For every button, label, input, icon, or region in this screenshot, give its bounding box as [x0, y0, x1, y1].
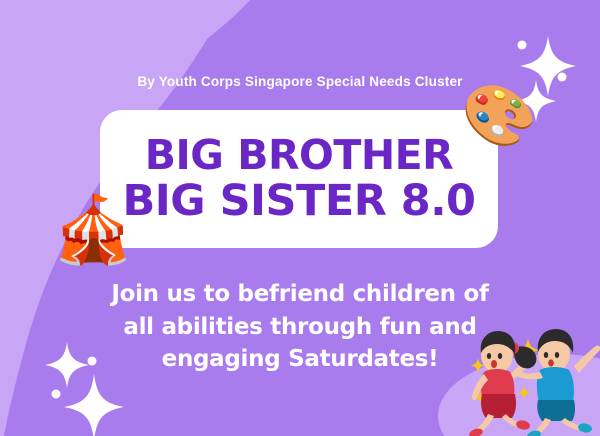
boy-eye [555, 352, 559, 358]
boy-shoe [577, 422, 592, 433]
boy-front-arm [516, 372, 543, 380]
girl-dress-top [481, 369, 514, 396]
gold-sparkle-icon [517, 386, 531, 400]
circus-tent-icon: 🎪 [52, 196, 134, 262]
girl-eye [498, 353, 502, 359]
artist-palette-icon: 🎨 [460, 83, 539, 148]
boy-mouth [548, 359, 554, 366]
girl-shoe [515, 419, 531, 431]
running-children-illustration [466, 322, 600, 436]
boy-eye [544, 352, 548, 358]
girl-skirt [481, 394, 516, 418]
boy-shirt [537, 367, 574, 402]
sparkle-dot-icon [52, 390, 61, 399]
title-line-2: BIG SISTER 8.0 [123, 179, 476, 224]
title-line-1: BIG BROTHER [145, 134, 453, 177]
sparkle-star-icon [64, 374, 124, 436]
page-title: BIG BROTHER BIG SISTER 8.0 [100, 110, 498, 248]
girl-eye [487, 353, 491, 359]
boy-raised-arm [574, 345, 600, 373]
poster-canvas: By Youth Corps Singapore Special Needs C… [0, 0, 600, 436]
boy-shorts [537, 400, 575, 421]
sparkle-dot-icon [518, 41, 527, 50]
girl-mouth [491, 360, 497, 368]
subtitle-line-1: Join us to befriend children of [0, 278, 600, 311]
